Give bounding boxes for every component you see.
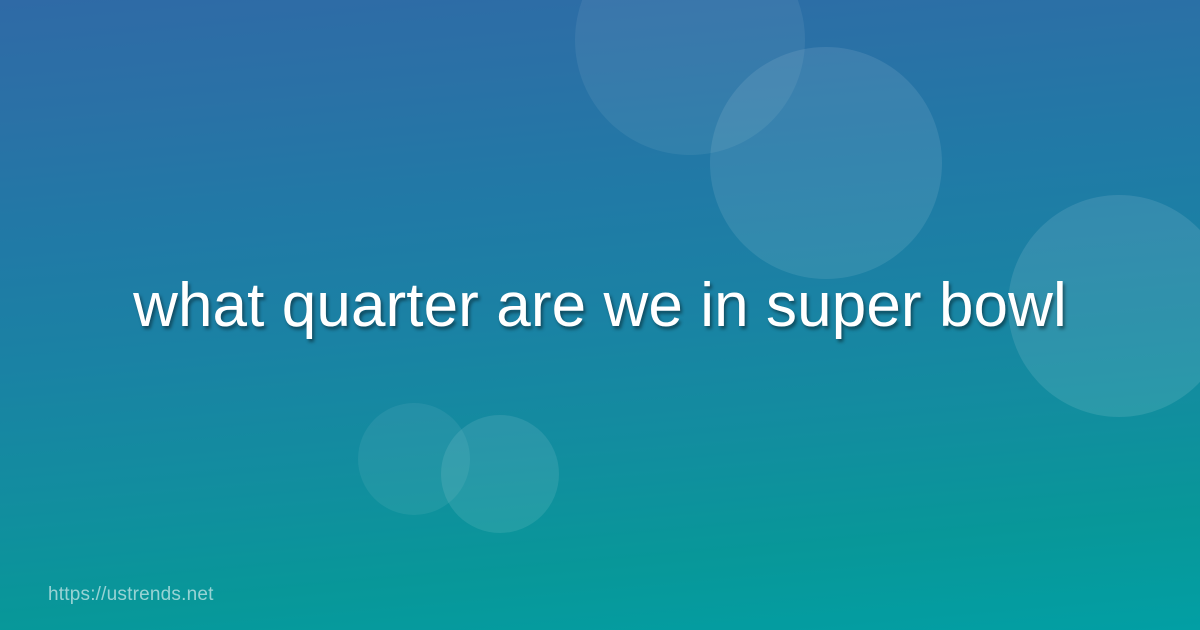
site-url-label: https://ustrends.net (48, 585, 214, 604)
page-title: what quarter are we in super bowl (75, 269, 1125, 360)
social-share-card: what quarter are we in super bowl https:… (0, 0, 1200, 630)
headline-container: what quarter are we in super bowl (0, 0, 1200, 630)
